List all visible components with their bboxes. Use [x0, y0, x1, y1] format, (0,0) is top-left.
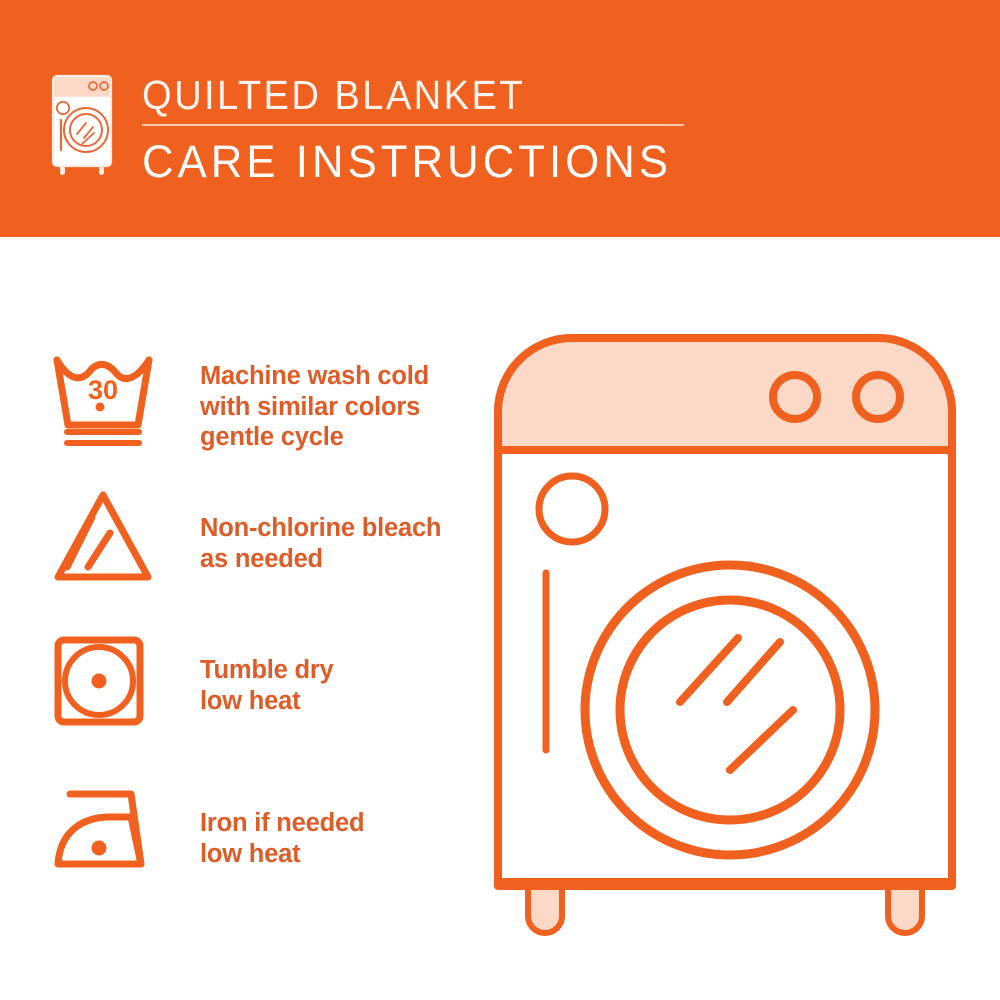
title-divider — [142, 124, 684, 126]
care-row: Iron if needed low heat — [0, 782, 470, 877]
tumble-dry-low-heat-icon — [48, 632, 158, 732]
care-row: 30 Machine wash cold with similar colors… — [0, 347, 470, 453]
care-instruction-list: 30 Machine wash cold with similar colors… — [0, 237, 470, 1000]
wash-temperature-label: 30 — [88, 375, 118, 405]
washing-machine-icon — [46, 68, 120, 178]
front-load-washing-machine-illustration — [490, 330, 960, 940]
care-text: Tumble dry low heat — [200, 632, 334, 716]
care-text: Non-chlorine bleach as needed — [200, 487, 441, 574]
header-banner: QUILTED BLANKET CARE INSTRUCTIONS — [0, 0, 1000, 237]
care-row: Non-chlorine bleach as needed — [0, 487, 470, 587]
page-subtitle: CARE INSTRUCTIONS — [142, 136, 685, 188]
wash-tub-30-gentle-icon: 30 — [48, 347, 158, 452]
care-row: Tumble dry low heat — [0, 632, 470, 732]
care-text: Iron if needed low heat — [200, 782, 364, 869]
iron-low-heat-icon — [48, 782, 158, 877]
care-text: Machine wash cold with similar colors ge… — [200, 347, 429, 453]
header-title-group: QUILTED BLANKET CARE INSTRUCTIONS — [142, 72, 702, 188]
bleach-triangle-non-chlorine-icon — [48, 487, 158, 587]
page-title: QUILTED BLANKET — [142, 72, 663, 118]
care-instructions-infographic: QUILTED BLANKET CARE INSTRUCTIONS 30 — [0, 0, 1000, 1000]
knob-left — [773, 375, 817, 419]
knob-right — [856, 375, 900, 419]
